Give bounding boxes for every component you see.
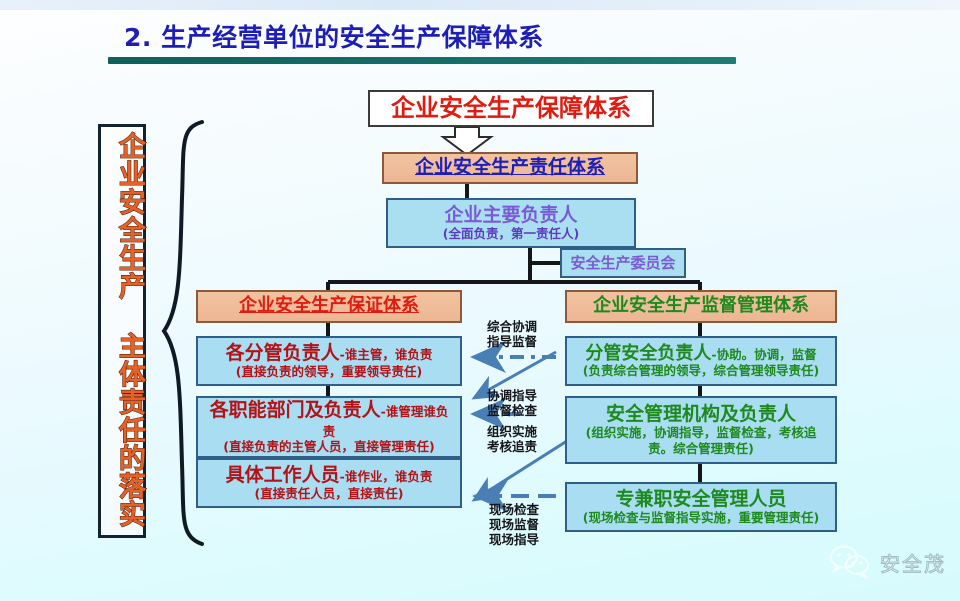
wechat-icon — [829, 545, 871, 579]
left-item-2-title: 具体工作人员 — [226, 464, 340, 486]
right-item-0[interactable]: 分管安全负责人-协助。协调，监督 (负责综合管理的领导，综合管理领导责任) — [565, 336, 837, 386]
node-root[interactable]: 企业安全生产保障体系 — [368, 90, 654, 127]
left-item-2-subtitle: (直接责任人员，直接责任) — [255, 487, 404, 501]
vertical-label-text: 企业安全生产 主体责任的落实 — [101, 132, 143, 528]
node-principal-subtitle: (全面负责，第一责任人) — [443, 227, 579, 241]
right-column-header[interactable]: 企业安全生产监督管理体系 — [565, 290, 837, 323]
node-responsibility-title: 企业安全生产责任体系 — [415, 157, 605, 178]
annotation-3-line-2: 现场指导 — [489, 533, 539, 548]
annotation-3: 现场检查 现场监督 现场指导 — [489, 503, 539, 547]
left-item-0-title: 各分管负责人 — [226, 342, 340, 364]
annotation-2-line-1: 考核追责 — [487, 440, 537, 455]
annotation-3-line-1: 现场监督 — [489, 518, 539, 533]
right-item-2-title: 专兼职安全管理人员 — [615, 489, 786, 510]
title-underline — [108, 57, 736, 64]
left-header-title: 企业安全生产保证体系 — [239, 296, 419, 316]
right-item-2[interactable]: 专兼职安全管理人员 (现场检查与监督指导实施，重要管理责任) — [565, 482, 837, 532]
right-item-0-subtitle: (负责综合管理的领导，综合管理领导责任) — [583, 364, 819, 378]
page-title: 2. 生产经营单位的安全生产保障体系 — [124, 18, 544, 54]
left-item-1[interactable]: 各职能部门及负责人-谁管理谁负责 (直接负责的主管人员，直接管理责任) — [196, 396, 462, 458]
node-root-title: 企业安全生产保障体系 — [391, 95, 631, 122]
left-item-2-tail: -谁作业，谁负责 — [340, 469, 433, 484]
left-item-1-title: 各职能部门及负责人 — [210, 399, 381, 421]
right-item-2-subtitle: (现场检查与监督指导实施，重要管理责任) — [583, 511, 819, 525]
annotation-0: 综合协调 指导监督 — [487, 320, 537, 350]
annotation-1-line-0: 协调指导 — [487, 389, 537, 404]
left-item-0-subtitle: (直接负责的领导，重要领导责任) — [236, 365, 422, 379]
right-item-1[interactable]: 安全管理机构及负责人 (组织实施，协调指导，监督检查，考核追责。综合管理责任) — [565, 396, 837, 464]
right-item-1-subtitle: (组织实施，协调指导，监督检查，考核追责。综合管理责任) — [567, 425, 835, 456]
right-header-title: 企业安全生产监督管理体系 — [593, 296, 809, 316]
vertical-label-panel: 企业安全生产 主体责任的落实 — [98, 124, 146, 538]
left-column-header[interactable]: 企业安全生产保证体系 — [196, 290, 462, 323]
node-principal-title: 企业主要负责人 — [444, 205, 577, 226]
watermark: 安全茂 — [829, 545, 946, 579]
node-safety-committee[interactable]: 安全生产委员会 — [560, 248, 686, 278]
annotation-0-line-0: 综合协调 — [487, 320, 537, 335]
node-principal[interactable]: 企业主要负责人 (全面负责，第一责任人) — [386, 198, 636, 248]
watermark-text: 安全茂 — [880, 548, 946, 577]
left-item-1-subtitle: (直接负责的主管人员，直接管理责任) — [223, 440, 434, 454]
top-decoration-strip — [0, 0, 960, 10]
annotation-1: 协调指导 监督检查 — [487, 389, 537, 419]
node-committee-title: 安全生产委员会 — [570, 255, 675, 272]
left-item-0-tail: -谁主管，谁负责 — [340, 347, 433, 362]
right-item-0-title: 分管安全负责人 — [585, 343, 711, 364]
right-item-1-title: 安全管理机构及负责人 — [606, 404, 796, 425]
annotation-3-line-0: 现场检查 — [489, 503, 539, 518]
annotation-1-line-1: 监督检查 — [487, 404, 537, 419]
left-item-0[interactable]: 各分管负责人-谁主管，谁负责 (直接负责的领导，重要领导责任) — [196, 336, 462, 386]
right-item-0-tail: -协助。协调，监督 — [711, 347, 816, 362]
annotation-2: 组织实施 考核追责 — [487, 425, 537, 455]
annotation-0-line-1: 指导监督 — [487, 335, 537, 350]
annotation-2-line-0: 组织实施 — [487, 425, 537, 440]
node-responsibility-system[interactable]: 企业安全生产责任体系 — [382, 152, 638, 184]
left-item-2[interactable]: 具体工作人员-谁作业，谁负责 (直接责任人员，直接责任) — [196, 458, 462, 508]
